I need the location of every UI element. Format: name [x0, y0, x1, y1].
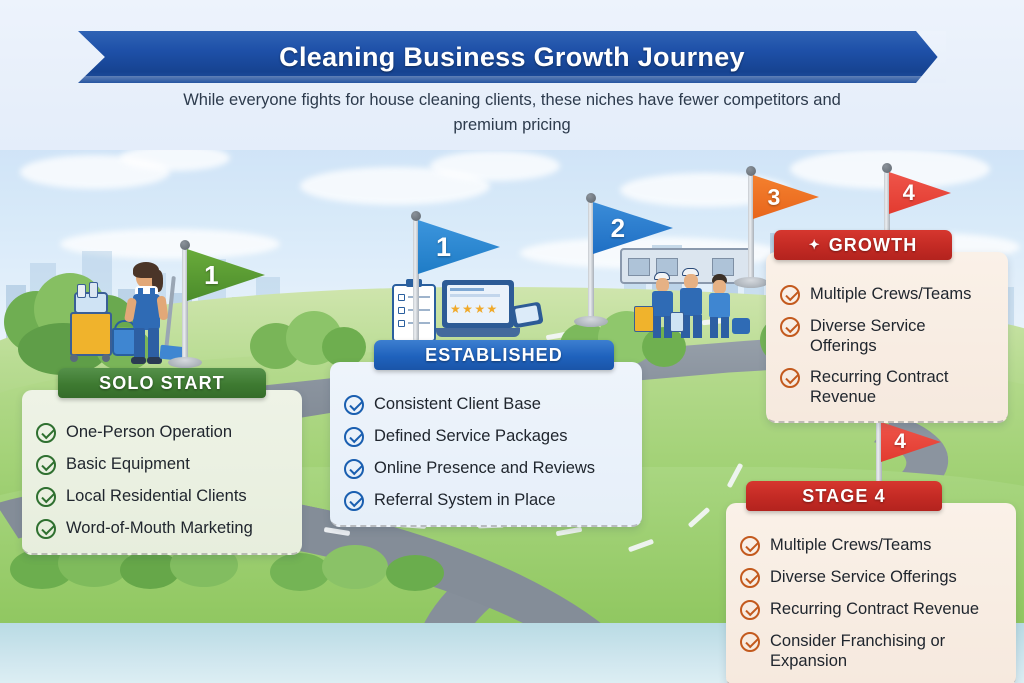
list-item-label: Basic Equipment — [66, 454, 190, 474]
review-stars: ★★★★ — [450, 302, 508, 316]
header-area: Cleaning Business Growth Journey While e… — [0, 0, 1024, 150]
check-icon — [344, 459, 364, 479]
check-icon — [780, 368, 800, 388]
card-header-label: GROWTH — [829, 235, 918, 256]
flag-base — [168, 357, 202, 368]
page-subtitle: While everyone fights for house cleaning… — [160, 88, 864, 138]
list-item[interactable]: Referral System in Place — [344, 490, 626, 511]
sparkle-icon: ✦ — [809, 237, 821, 253]
list-item-label: Diverse Service Offerings — [770, 567, 957, 587]
list-item-label: Recurring Contract Revenue — [770, 599, 979, 619]
flag-number: 4 — [903, 180, 915, 206]
flag-knob — [586, 193, 596, 203]
page-title: Cleaning Business Growth Journey — [279, 42, 745, 73]
flag-knob — [746, 166, 756, 176]
card-header-growth: ✦ GROWTH — [774, 230, 952, 260]
check-icon — [344, 427, 364, 447]
card-body-stage-4: Multiple Crews/Teams Diverse Service Off… — [726, 503, 1016, 683]
card-header-label: STAGE 4 — [802, 486, 885, 507]
list-item[interactable]: Diverse Service Offerings — [780, 316, 992, 356]
list-item[interactable]: Recurring Contract Revenue — [780, 367, 992, 407]
check-icon — [740, 632, 760, 652]
check-icon — [344, 395, 364, 415]
list-item-label: Diverse Service Offerings — [810, 316, 992, 356]
list-item[interactable]: Recurring Contract Revenue — [740, 599, 1000, 620]
flag-number: 1 — [204, 260, 218, 291]
list-item[interactable]: Diverse Service Offerings — [740, 567, 1000, 588]
check-icon — [780, 285, 800, 305]
check-icon — [36, 423, 56, 443]
check-icon — [740, 600, 760, 620]
check-icon — [36, 487, 56, 507]
check-icon — [780, 317, 800, 337]
list-item[interactable]: Multiple Crews/Teams — [780, 284, 992, 305]
list-item-label: Online Presence and Reviews — [374, 458, 595, 478]
cloud-shape — [430, 151, 560, 181]
flag-knob — [180, 240, 190, 250]
check-icon — [36, 519, 56, 539]
flag-base — [574, 316, 608, 327]
list-item[interactable]: Consider Franchising or Expansion — [740, 631, 1000, 671]
list-item-label: Consistent Client Base — [374, 394, 541, 414]
list-item-label: Consider Franchising or Expansion — [770, 631, 980, 671]
list-item[interactable]: Local Residential Clients — [36, 486, 286, 507]
cleaning-crew-illustration — [636, 248, 758, 340]
flag-number: 3 — [768, 184, 781, 211]
card-header-label: ESTABLISHED — [425, 345, 563, 366]
card-header-established: ESTABLISHED — [374, 340, 614, 370]
list-item-label: Multiple Crews/Teams — [770, 535, 931, 555]
flag-number: 2 — [611, 213, 625, 244]
flag-base — [734, 277, 768, 288]
card-body-growth: Multiple Crews/Teams Diverse Service Off… — [766, 252, 1008, 423]
list-item[interactable]: Word-of-Mouth Marketing — [36, 518, 286, 539]
list-item[interactable]: Multiple Crews/Teams — [740, 535, 1000, 556]
list-item[interactable]: Defined Service Packages — [344, 426, 626, 447]
bush-cluster-lower-mid — [270, 537, 490, 591]
flag-knob — [882, 163, 892, 173]
list-item[interactable]: One-Person Operation — [36, 422, 286, 443]
list-item-label: Multiple Crews/Teams — [810, 284, 971, 304]
check-icon — [740, 536, 760, 556]
card-header-label: SOLO START — [99, 373, 225, 394]
card-header-stage-4: STAGE 4 — [746, 481, 942, 511]
check-icon — [740, 568, 760, 588]
check-icon — [344, 491, 364, 511]
card-body-established: Consistent Client Base Defined Service P… — [330, 362, 642, 527]
list-item-label: Defined Service Packages — [374, 426, 568, 446]
check-icon — [36, 455, 56, 475]
flag-number: 1 — [436, 232, 451, 263]
title-ribbon: Cleaning Business Growth Journey — [78, 31, 946, 83]
list-item-label: Local Residential Clients — [66, 486, 247, 506]
list-item-label: One-Person Operation — [66, 422, 232, 442]
solo-cleaner-illustration — [68, 258, 194, 370]
list-item[interactable]: Consistent Client Base — [344, 394, 626, 415]
list-item[interactable]: Online Presence and Reviews — [344, 458, 626, 479]
flag-knob — [411, 211, 421, 221]
flag-number: 4 — [894, 430, 906, 454]
card-body-solo-start: One-Person Operation Basic Equipment Loc… — [22, 390, 302, 555]
list-item-label: Recurring Contract Revenue — [810, 367, 992, 407]
list-item[interactable]: Basic Equipment — [36, 454, 286, 475]
list-item-label: Word-of-Mouth Marketing — [66, 518, 253, 538]
list-item-label: Referral System in Place — [374, 490, 556, 510]
infographic-canvas: ★★★★ — [0, 0, 1024, 683]
card-header-solo-start: SOLO START — [58, 368, 266, 398]
